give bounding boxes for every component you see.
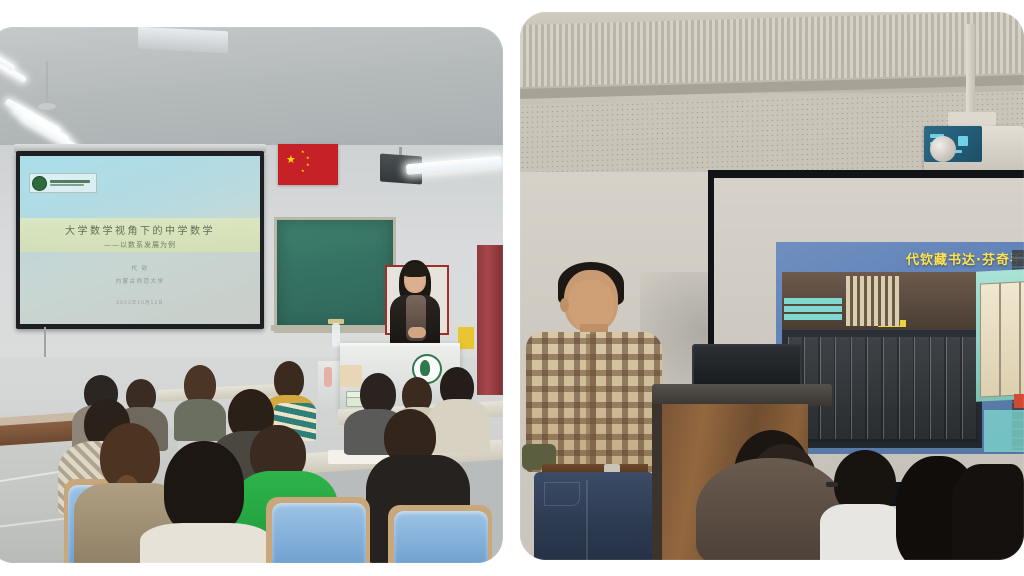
slide-title: 大学数学视角下的中学数学 <box>20 222 260 237</box>
ceiling <box>0 27 503 157</box>
flag-small-star: ★ <box>301 169 305 173</box>
slide-date: 2023年10月12日 <box>20 300 260 306</box>
window-curtain <box>477 245 503 395</box>
student-body <box>428 399 490 453</box>
shirt-placket <box>586 334 596 466</box>
chalkboard <box>274 217 396 333</box>
podium-top-surface <box>652 384 832 406</box>
left-photo[interactable]: 大学数学视角下的中学数学 ——以数系发展为例 代 钦 内蒙古师范大学 2023年… <box>0 27 503 563</box>
audience-body <box>820 504 904 560</box>
jeans-seam <box>586 480 588 560</box>
slide-affiliation: 内蒙古师范大学 <box>20 277 260 285</box>
projector-lens-icon <box>930 136 956 162</box>
slide-title: 代钦藏书达·芬奇手稿 <box>906 249 1024 268</box>
projected-slide: 大学数学视角下的中学数学 ——以数系发展为例 代 钦 内蒙古师范大学 2023年… <box>20 156 260 324</box>
red-book-marker <box>1014 394 1024 408</box>
jeans-pocket <box>544 482 580 506</box>
flag-small-star: ★ <box>301 150 305 154</box>
china-flag-icon: ★ ★ ★ ★ ★ <box>278 144 338 185</box>
presenter-fringe <box>402 263 428 277</box>
eyeglasses-icon <box>826 482 838 487</box>
photo-collage: 大学数学视角下的中学数学 ——以数系发展为例 代 钦 内蒙古师范大学 2023年… <box>0 0 1024 576</box>
projector-mount-pole <box>966 24 975 116</box>
flag-small-star: ★ <box>306 156 310 160</box>
university-seal-icon <box>32 176 47 191</box>
slide-bookshelf-photo <box>782 272 982 448</box>
water-bottle <box>332 323 340 347</box>
large-volume-set <box>976 268 1024 402</box>
right-photo[interactable]: 代钦藏书达·芬奇手稿 <box>520 12 1024 560</box>
slide-subtitle: ——以数系发展为例 <box>20 240 260 250</box>
desk-item <box>340 365 362 387</box>
projected-slide: 代钦藏书达·芬奇手稿 <box>776 242 1024 454</box>
wall-box <box>458 327 474 349</box>
audience-head <box>952 464 1024 560</box>
flag-big-star: ★ <box>286 155 297 166</box>
ceiling-vent <box>138 27 228 53</box>
classroom-chair <box>272 503 366 563</box>
projector-bracket <box>948 112 996 126</box>
slide-presenter-name: 代 钦 <box>20 264 260 272</box>
screen-pull-cord <box>44 327 46 357</box>
student-body <box>174 399 226 441</box>
presenter-hands <box>408 327 426 338</box>
university-logo <box>29 173 97 193</box>
student-head <box>164 441 244 535</box>
book-row <box>846 276 900 326</box>
presenter-ear <box>560 298 569 312</box>
water-bottle <box>324 367 332 387</box>
lamp-rod <box>46 61 48 107</box>
flag-small-star: ★ <box>306 163 310 167</box>
lamp-base <box>38 103 56 110</box>
projection-screen-frame: 大学数学视角下的中学数学 ——以数系发展为例 代 钦 内蒙古师范大学 2023年… <box>16 151 264 329</box>
student-head <box>274 361 304 399</box>
student-body <box>140 523 272 563</box>
classroom-chair <box>394 511 488 563</box>
university-name-mark <box>50 180 90 186</box>
